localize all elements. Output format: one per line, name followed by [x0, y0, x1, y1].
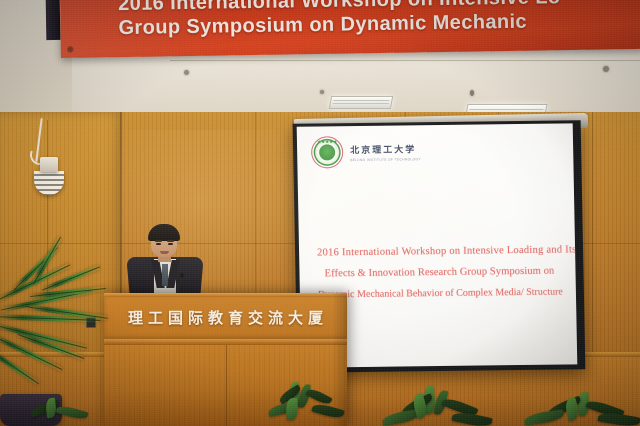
security-camera-icon	[40, 157, 58, 172]
foliage-right-2	[520, 392, 640, 426]
conference-photo-scene: 2016 International Workshop on Intensive…	[0, 0, 640, 426]
necktie	[162, 264, 168, 286]
eyebrow-right	[167, 240, 174, 242]
podium-sign-text: 理工国际教育交流大厦	[104, 307, 347, 328]
ceiling-fixture-dot-2	[320, 90, 324, 94]
mouth	[160, 251, 169, 254]
event-banner: 2016 International Workshop on Intensive…	[60, 0, 640, 58]
seal-emblem-icon	[319, 144, 335, 160]
banner-grommet	[67, 46, 74, 53]
ceiling-fixture-dot-1	[184, 70, 189, 75]
speaker-hair	[148, 224, 180, 241]
ceiling-fixture-dot-3	[470, 90, 474, 96]
ceiling-fixture-dot-4	[603, 66, 609, 72]
university-name-cn: 北京理工大学	[350, 142, 421, 156]
university-name-en: BEIJING INSTITUTE OF TECHNOLOGY	[350, 157, 421, 162]
microphone-icon	[180, 273, 184, 278]
foliage-center	[262, 382, 352, 426]
slide-title-block: 2016 International Workshop on Intensive…	[317, 240, 562, 306]
foliage-right-1	[380, 386, 500, 426]
speaker-figure	[126, 224, 204, 296]
foliage-left-lower	[20, 398, 100, 426]
podium-panel-seam	[226, 345, 227, 426]
ceiling-light-1	[329, 96, 394, 109]
slide-title-line-2: Effects & Innovation Research Group Symp…	[317, 261, 561, 285]
eyebrow-left	[155, 240, 162, 242]
eye-left	[156, 243, 161, 245]
eye-right	[168, 243, 173, 245]
bit-seal-icon: ★★★★★	[311, 136, 344, 168]
slide-title-line-3: Dynamic Mechanical Behavior of Complex M…	[318, 282, 562, 306]
ceiling-seam	[170, 60, 640, 61]
slide-logo: ★★★★★ 北京理工大学 BEIJING INSTITUTE OF TECHNO…	[311, 135, 421, 168]
banner-pole	[46, 0, 61, 40]
slide-title-line-1: 2016 International Workshop on Intensive…	[317, 240, 561, 264]
podium-sign-panel: 理工国际教育交流大厦	[104, 297, 347, 339]
